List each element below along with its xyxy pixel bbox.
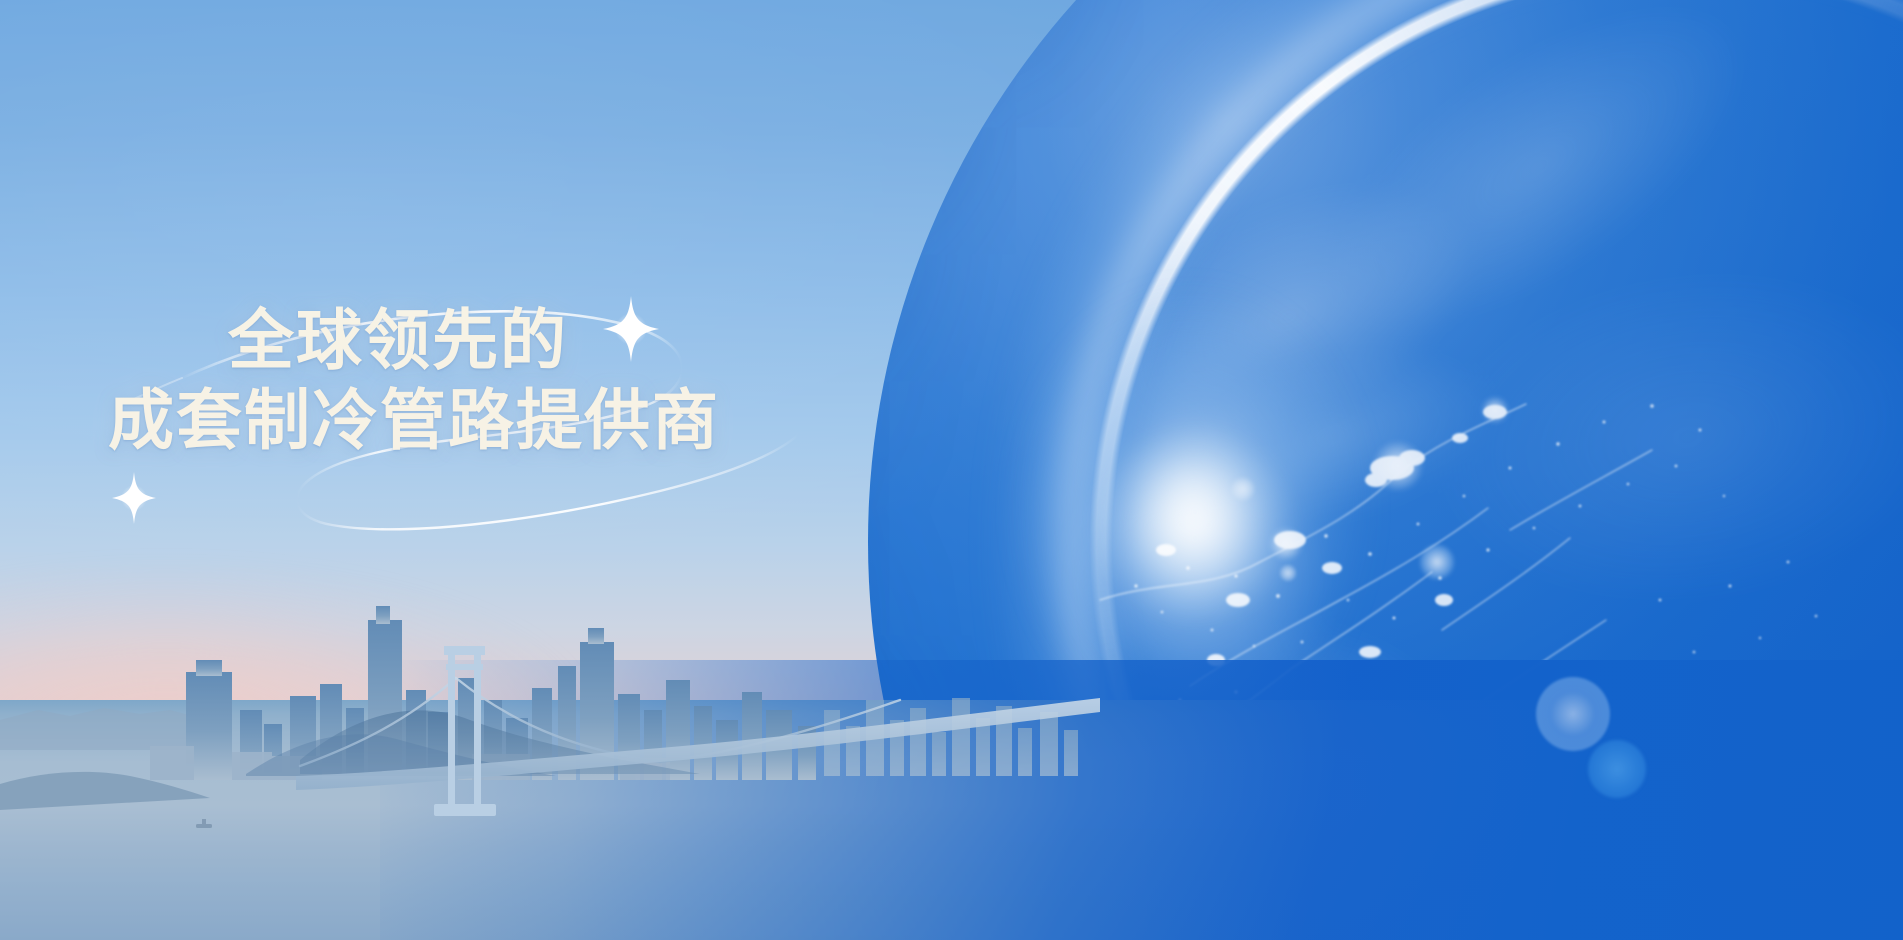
headline-line-1: 全球领先的 [228,300,868,380]
hero-banner: 全球领先的 成套制冷管路提供商 [0,0,1903,940]
sea-blue-wash [380,660,1903,940]
hero-headline: 全球领先的 成套制冷管路提供商 [108,300,868,460]
headline-line-2: 成套制冷管路提供商 [108,380,868,460]
